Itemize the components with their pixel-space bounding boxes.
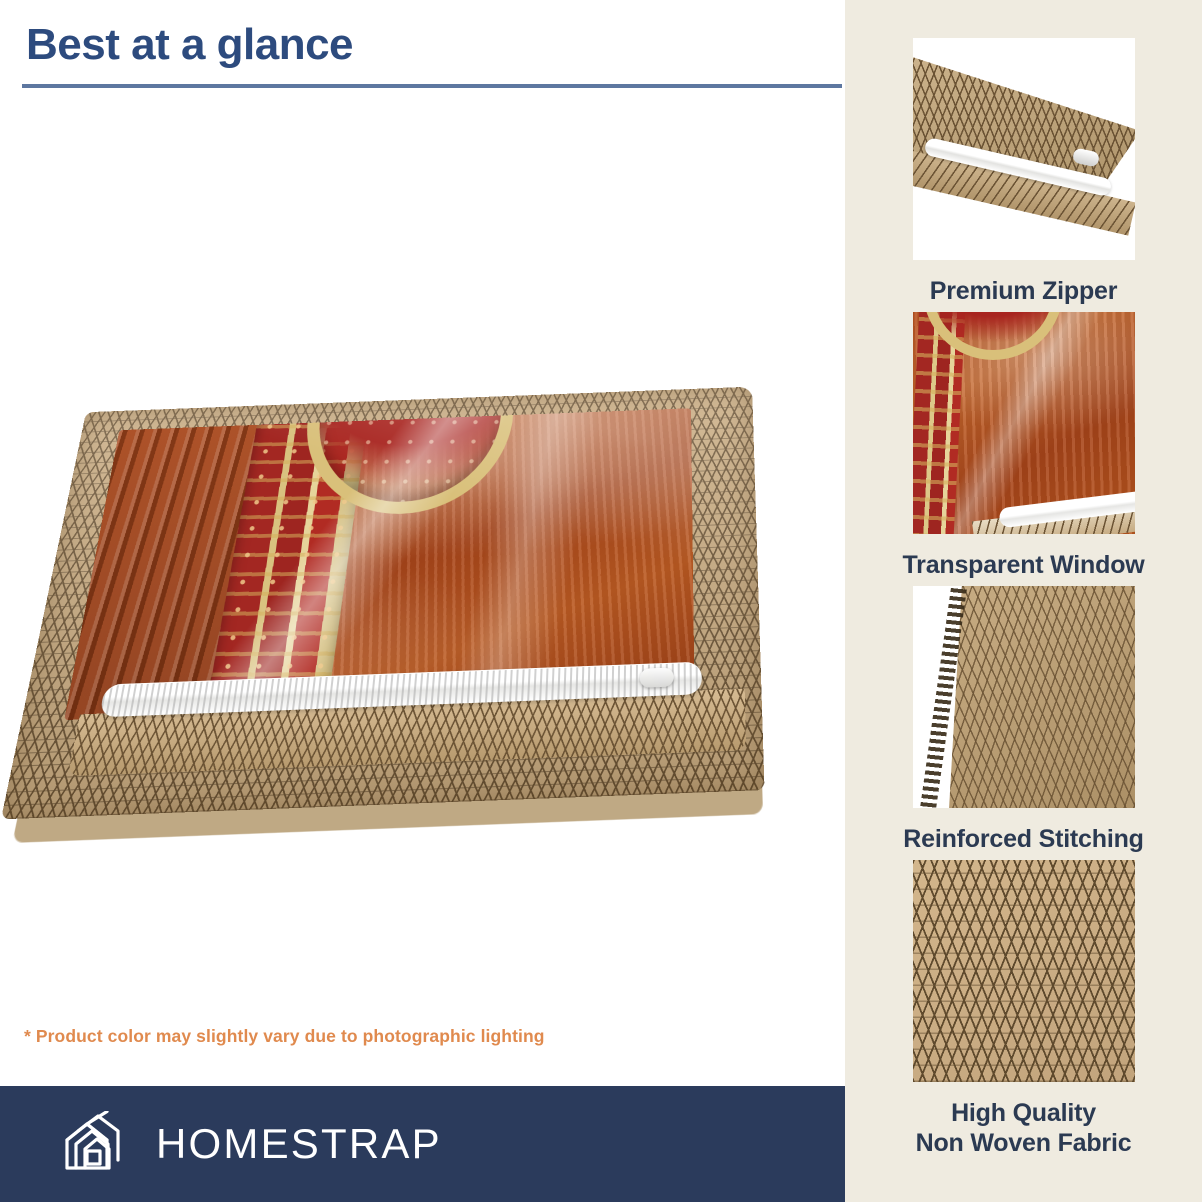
infographic-page: Best at a glance (0, 0, 1202, 1202)
feature-label-reinforced-stitching: Reinforced Stitching (845, 824, 1202, 854)
feature-transparent-window[interactable]: Transparent Window (845, 312, 1202, 580)
zipper-pull-icon (640, 667, 674, 687)
thumbnail-reinforced-stitching[interactable] (913, 586, 1135, 808)
saree-cover-bag-illustration (29, 336, 786, 834)
title-divider (22, 84, 842, 88)
feature-label-line2: Non Woven Fabric (845, 1128, 1202, 1158)
thumbnail-premium-zipper[interactable] (913, 38, 1135, 260)
feature-label-line1: High Quality (951, 1099, 1096, 1127)
feature-label-non-woven-fabric: High Quality Non Woven Fabric (845, 1098, 1202, 1158)
header: Best at a glance (22, 14, 822, 88)
main-panel: Best at a glance (0, 0, 845, 1202)
nonwoven-panel (934, 586, 1134, 808)
feature-label-premium-zipper: Premium Zipper (845, 276, 1202, 306)
feature-reinforced-stitching[interactable]: Reinforced Stitching (845, 586, 1202, 854)
thumbnail-transparent-window[interactable] (913, 312, 1135, 534)
page-title: Best at a glance (22, 14, 822, 68)
product-image (0, 330, 845, 890)
feature-premium-zipper[interactable]: Premium Zipper (845, 38, 1202, 306)
feature-non-woven-fabric[interactable]: High Quality Non Woven Fabric (845, 860, 1202, 1158)
brand-name: HOMESTRAP (156, 1123, 442, 1165)
brand-footer: HOMESTRAP (0, 1086, 845, 1202)
product-image-stage (38, 350, 778, 850)
feature-sidebar: Premium Zipper Transparent Window Reinfo… (845, 0, 1202, 1202)
disclaimer-text: * Product color may slightly vary due to… (24, 1026, 545, 1047)
feature-label-transparent-window: Transparent Window (845, 550, 1202, 580)
homestrap-house-logo-icon (62, 1111, 130, 1178)
thumbnail-non-woven-fabric[interactable] (913, 860, 1135, 1082)
